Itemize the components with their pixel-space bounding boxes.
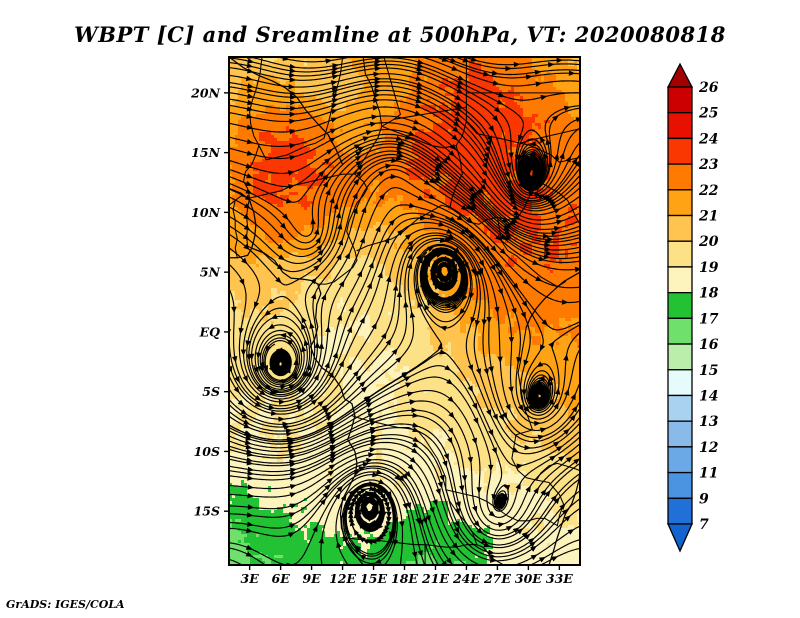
colorbar-tick-label-11: 15	[699, 363, 718, 379]
x-tick-label-5: 18E	[391, 571, 418, 586]
colorbar-band-17	[668, 498, 692, 524]
colorbar-tick-label-16: 9	[699, 491, 709, 507]
colorbar-band-14	[668, 421, 692, 447]
colorbar-tick-label-10: 16	[699, 337, 719, 353]
colorbar-band-6	[668, 216, 692, 242]
colorbar-tick-label-17: 7	[699, 517, 709, 533]
colorbar-band-7	[668, 241, 692, 267]
colorbar-band-12	[668, 370, 692, 396]
colorbar-tick-label-6: 20	[698, 234, 719, 250]
x-tick-label-1: 6E	[272, 571, 291, 586]
colorbar-band-9	[668, 293, 692, 319]
colorbar-band-11	[668, 344, 692, 370]
x-tick-label-9: 30E	[515, 571, 542, 586]
y-tick-label-2: 10N	[191, 205, 220, 220]
x-tick-label-2: 9E	[302, 571, 321, 586]
colorbar-tick-label-5: 21	[698, 209, 718, 225]
x-tick-label-7: 24E	[452, 571, 480, 586]
page-title: WBPT [C] and Sreamline at 500hPa, VT: 20…	[74, 22, 726, 47]
colorbar-band-1	[668, 87, 692, 113]
y-tick-label-3: 5N	[200, 265, 221, 280]
colorbar-tick-label-8: 18	[699, 286, 719, 302]
colorbar-tick-label-13: 13	[699, 414, 719, 430]
grads-figure: WBPT [C] and Sreamline at 500hPa, VT: 20…	[0, 0, 800, 618]
colorbar-tick-label-1: 25	[698, 106, 718, 122]
x-tick-label-3: 12E	[329, 571, 356, 586]
colorbar-tick-label-12: 14	[699, 388, 718, 404]
colorbar-band-5	[668, 190, 692, 216]
colorbar-tick-label-15: 11	[699, 466, 718, 482]
x-tick-label-4: 15E	[360, 571, 387, 586]
y-tick-label-6: 10S	[194, 444, 220, 459]
x-tick-label-10: 33E	[546, 571, 573, 586]
credit-label: GrADS: IGES/COLA	[6, 598, 125, 611]
colorbar-band-13	[668, 395, 692, 421]
colorbar-tick-label-14: 12	[699, 440, 719, 456]
colorbar-band-4	[668, 164, 692, 190]
colorbar-tick-label-7: 19	[699, 260, 719, 276]
colorbar-tick-label-0: 26	[698, 80, 719, 96]
colorbar-tick-label-3: 23	[698, 157, 719, 173]
y-tick-label-1: 15N	[191, 145, 220, 160]
y-tick-label-0: 20N	[190, 85, 220, 100]
y-tick-label-5: 5S	[202, 384, 220, 399]
colorbar-tick-label-9: 17	[699, 311, 719, 327]
colorbar-tick-label-4: 22	[698, 183, 719, 199]
y-tick-label-7: 15S	[194, 504, 220, 519]
colorbar-band-2	[668, 113, 692, 139]
colorbar-band-15	[668, 447, 692, 473]
x-tick-label-8: 27E	[483, 571, 511, 586]
x-tick-label-0: 3E	[241, 571, 260, 586]
y-tick-label-4: EQ	[199, 324, 221, 339]
colorbar-band-16	[668, 473, 692, 499]
x-tick-label-6: 21E	[421, 571, 449, 586]
colorbar-band-3	[668, 138, 692, 164]
colorbar-band-8	[668, 267, 692, 293]
colorbar-tick-label-2: 24	[698, 131, 718, 147]
colorbar-band-10	[668, 318, 692, 344]
